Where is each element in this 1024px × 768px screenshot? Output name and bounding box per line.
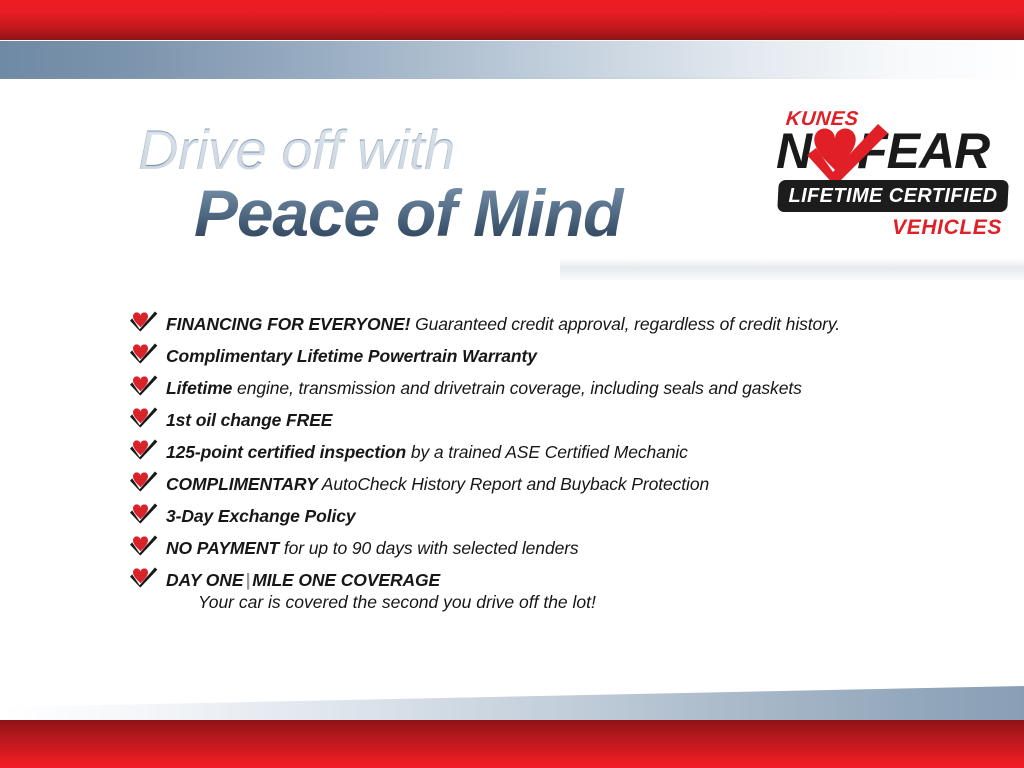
- list-item: Complimentary Lifetime Powertrain Warran…: [130, 340, 930, 372]
- list-item-bold: 125-point certified inspection: [166, 442, 406, 462]
- list-item: 125-point certified inspection by a trai…: [130, 436, 930, 468]
- list-item: DAY ONE|MILE ONE COVERAGE Your car is co…: [130, 564, 930, 616]
- list-item-bold: Lifetime: [166, 378, 232, 398]
- list-item-separator: |: [243, 570, 252, 590]
- list-item-text: Lifetime engine, transmission and drivet…: [166, 372, 930, 404]
- benefits-list: FINANCING FOR EVERYONE! Guaranteed credi…: [130, 308, 930, 616]
- list-item-rest: engine, transmission and drivetrain cove…: [232, 378, 801, 398]
- bottom-gray-band: [0, 686, 1024, 720]
- list-item: 1st oil change FREE: [130, 404, 930, 436]
- list-item-text: 3-Day Exchange Policy: [166, 500, 930, 532]
- logo-lifetime-certified-banner: LIFETIME CERTIFIED: [777, 180, 1009, 212]
- heart-check-icon: [802, 122, 888, 188]
- headline-sheen-divider: [560, 258, 1024, 280]
- advertisement-canvas: Drive off with Peace of Mind KUNES NFEAR…: [0, 0, 1024, 768]
- list-item-text: 1st oil change FREE: [166, 404, 930, 436]
- top-gray-band: [0, 41, 1024, 79]
- list-item-bold: COMPLIMENTARY: [166, 474, 318, 494]
- headline-line-2: Peace of Mind: [194, 180, 758, 247]
- list-item-bold-2: MILE ONE COVERAGE: [252, 570, 440, 590]
- headline: Drive off with Peace of Mind: [138, 122, 758, 247]
- list-item-bold: FINANCING FOR EVERYONE!: [166, 314, 410, 334]
- heart-check-bullet-icon: [130, 342, 158, 364]
- bottom-red-band: [0, 720, 1024, 768]
- list-item: COMPLIMENTARY AutoCheck History Report a…: [130, 468, 930, 500]
- heart-check-bullet-icon: [130, 534, 158, 556]
- heart-check-bullet-icon: [130, 374, 158, 396]
- list-item-bold: 3-Day Exchange Policy: [166, 506, 356, 526]
- list-item-text: Complimentary Lifetime Powertrain Warran…: [166, 340, 930, 372]
- headline-line-1: Drive off with: [138, 122, 758, 178]
- list-item-rest: for up to 90 days with selected lenders: [279, 538, 579, 558]
- heart-check-bullet-icon: [130, 310, 158, 332]
- list-item-text: 125-point certified inspection by a trai…: [166, 436, 930, 468]
- list-item-bold: DAY ONE: [166, 570, 243, 590]
- heart-check-bullet-icon: [130, 470, 158, 492]
- logo-vehicles-text: VEHICLES: [892, 216, 1002, 240]
- list-item-bold: NO PAYMENT: [166, 538, 279, 558]
- heart-check-bullet-icon: [130, 406, 158, 428]
- list-item-bold: 1st oil change FREE: [166, 410, 332, 430]
- list-item-subline: Your car is covered the second you drive…: [198, 588, 930, 616]
- list-item: FINANCING FOR EVERYONE! Guaranteed credi…: [130, 308, 930, 340]
- heart-check-bullet-icon: [130, 566, 158, 588]
- list-item-rest: AutoCheck History Report and Buyback Pro…: [318, 474, 709, 494]
- logo-banner-text: LIFETIME CERTIFIED: [778, 180, 1008, 212]
- top-red-band: [0, 0, 1024, 40]
- list-item-text: COMPLIMENTARY AutoCheck History Report a…: [166, 468, 930, 500]
- list-item-bold: Complimentary Lifetime Powertrain Warran…: [166, 346, 537, 366]
- heart-check-bullet-icon: [130, 438, 158, 460]
- kunes-no-fear-logo: KUNES NFEAR LIFETIME CERTIFIED VEHICLES: [776, 108, 1014, 246]
- list-item-rest: by a trained ASE Certified Mechanic: [406, 442, 688, 462]
- list-item-rest: Guaranteed credit approval, regardless o…: [410, 314, 840, 334]
- list-item-text: NO PAYMENT for up to 90 days with select…: [166, 532, 930, 564]
- list-item-text: FINANCING FOR EVERYONE! Guaranteed credi…: [166, 308, 930, 340]
- list-item: 3-Day Exchange Policy: [130, 500, 930, 532]
- list-item: Lifetime engine, transmission and drivet…: [130, 372, 930, 404]
- heart-check-bullet-icon: [130, 502, 158, 524]
- list-item: NO PAYMENT for up to 90 days with select…: [130, 532, 930, 564]
